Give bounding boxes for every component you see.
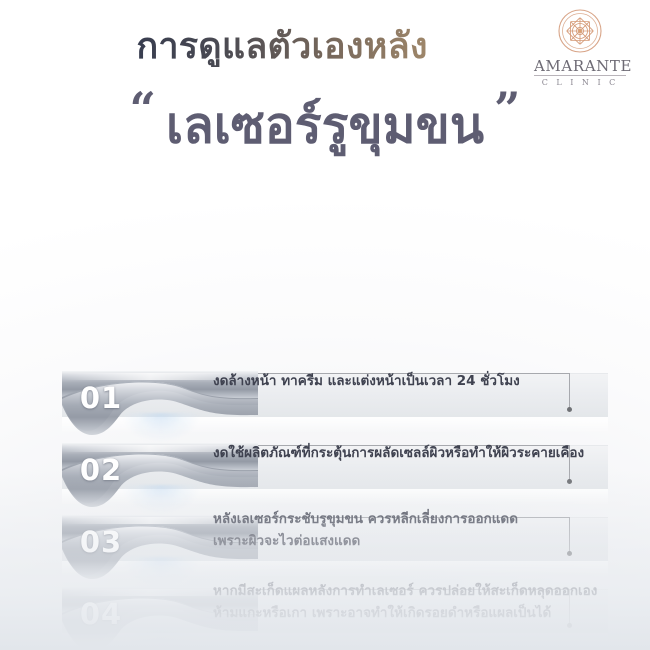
step-text-line: หากมีสะเก็ดแผลหลังการทำเลเซอร์ ควรปล่อยใ…: [213, 581, 570, 603]
brand-name: AMARANTE: [534, 59, 626, 76]
mandala-emblem-icon: [534, 8, 626, 57]
step-text: หลังเลเซอร์กระชับรูขุมขน ควรหลีกเลี่ยงกา…: [213, 509, 570, 553]
poster-header: การดูแลตัวเองหลัง “เลเซอร์รูขุมขน”: [0, 0, 650, 175]
step-text-line: หลังเลเซอร์กระชับรูขุมขน ควรหลีกเลี่ยงกา…: [213, 509, 570, 531]
step-text-line: ห้ามแกะหรือเกา เพราะอาจทำให้เกิดรอยดำหรื…: [213, 603, 570, 625]
step-row[interactable]: 04หากมีสะเก็ดแผลหลังการทำเลเซอร์ ควรปล่อ…: [0, 581, 650, 650]
step-number: 02: [56, 453, 146, 487]
page-title-line-2: “เลเซอร์รูขุมขน”: [0, 82, 650, 156]
step-number: 03: [56, 525, 146, 559]
step-row[interactable]: 03หลังเลเซอร์กระชับรูขุมขน ควรหลีกเลี่ยง…: [0, 509, 650, 581]
poster-canvas: การดูแลตัวเองหลัง “เลเซอร์รูขุมขน”: [0, 0, 650, 650]
page-title-highlight: เลเซอร์รูขุมขน: [166, 97, 484, 155]
step-text-line: งดล้างหน้า ทาครีม และแต่งหน้าเป็นเวลา 24…: [213, 371, 570, 393]
step-text: หากมีสะเก็ดแผลหลังการทำเลเซอร์ ควรปล่อยใ…: [213, 581, 570, 625]
quote-close-mark: ”: [484, 82, 530, 136]
step-row[interactable]: 02งดใช้ผลิตภัณฑ์ที่กระตุ้นการผลัดเซลล์ผิ…: [0, 437, 650, 509]
quote-open-mark: “: [120, 82, 166, 136]
step-text-line: งดใช้ผลิตภัณฑ์ที่กระตุ้นการผลัดเซลล์ผิวห…: [213, 443, 570, 465]
step-number: 04: [56, 597, 146, 631]
step-text: งดใช้ผลิตภัณฑ์ที่กระตุ้นการผลัดเซลล์ผิวห…: [213, 443, 570, 465]
brand-logo[interactable]: AMARANTE C L I N I C: [534, 8, 626, 87]
connector-end-dot: [567, 407, 572, 412]
connector-end-dot: [567, 479, 572, 484]
step-text: งดล้างหน้า ทาครีม และแต่งหน้าเป็นเวลา 24…: [213, 371, 570, 393]
step-number: 01: [56, 381, 146, 415]
brand-subtitle: C L I N I C: [534, 76, 626, 87]
step-text-line: เพราะผิวจะไวต่อแสงแดด: [213, 531, 570, 553]
step-row[interactable]: 01งดล้างหน้า ทาครีม และแต่งหน้าเป็นเวลา …: [0, 365, 650, 437]
